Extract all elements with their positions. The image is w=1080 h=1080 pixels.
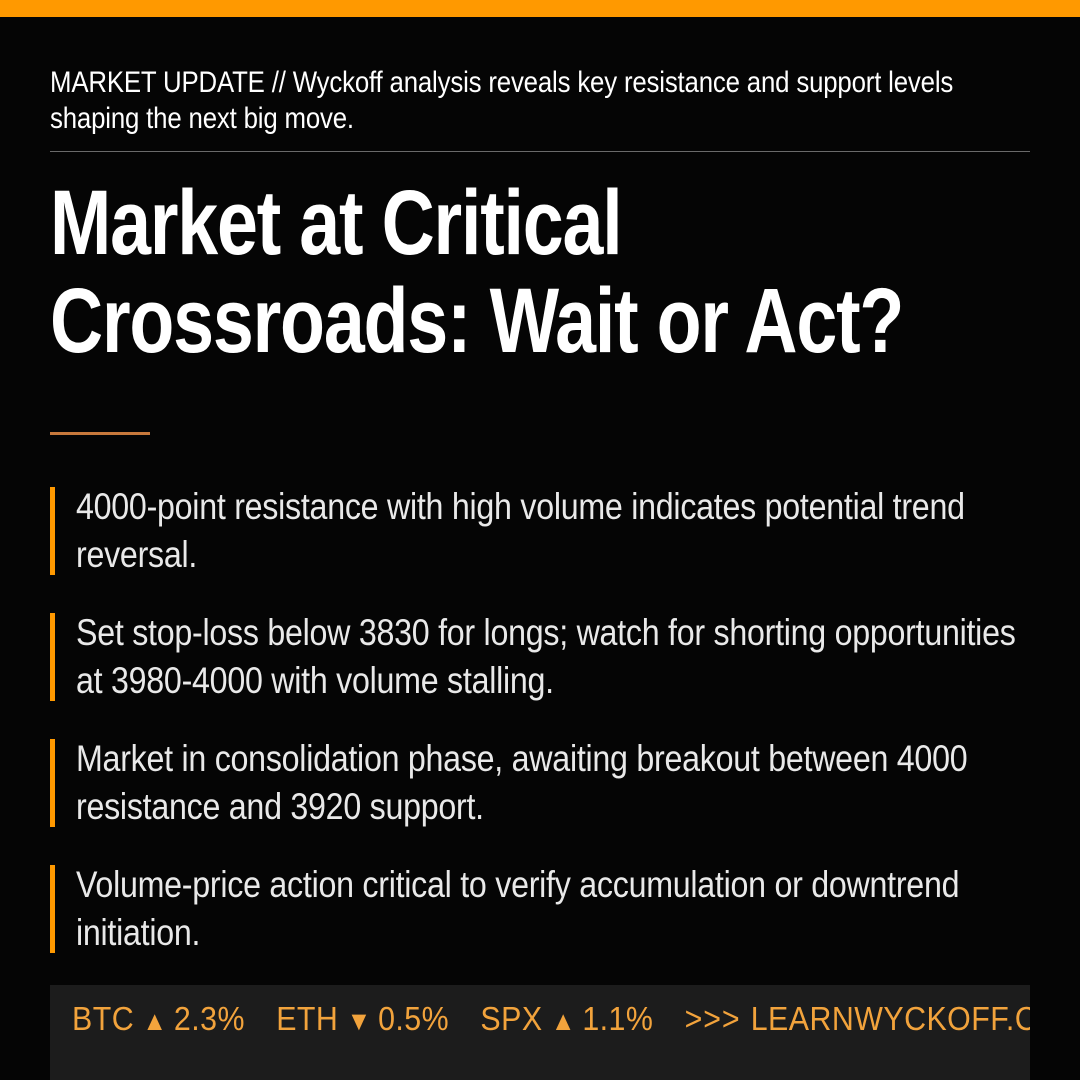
ticker-change: 1.1% — [582, 999, 653, 1039]
list-item: Market in consolidation phase, awaiting … — [50, 735, 1030, 831]
list-item: Volume-price action critical to verify a… — [50, 861, 1030, 957]
ticker-symbol: BTC — [72, 999, 134, 1039]
list-item: 4000-point resistance with high volume i… — [50, 483, 1030, 579]
bullet-text: Market in consolidation phase, awaiting … — [76, 735, 1033, 831]
bullet-text: Volume-price action critical to verify a… — [76, 861, 1033, 957]
bullet-accent-bar — [50, 739, 55, 827]
bullet-accent-bar — [50, 487, 55, 575]
ticker-symbol: ETH — [276, 999, 338, 1039]
top-accent-bar — [0, 0, 1080, 17]
ticker-symbol: SPX — [480, 999, 542, 1039]
ticker-cta-link[interactable]: >>> LEARNWYCKOFF.COM — [685, 999, 1030, 1039]
market-update-graphic: MARKET UPDATE // Wyckoff analysis reveal… — [0, 0, 1080, 1080]
bullet-accent-bar — [50, 865, 55, 953]
arrow-up-icon: ▲ — [142, 1001, 167, 1041]
kicker-divider — [50, 151, 1030, 152]
headline-accent-rule — [50, 432, 150, 435]
bullet-text: 4000-point resistance with high volume i… — [76, 483, 1033, 579]
chevrons-right-icon: >>> — [685, 999, 741, 1039]
arrow-up-icon: ▲ — [551, 1001, 576, 1041]
bullet-text: Set stop-loss below 3830 for longs; watc… — [76, 609, 1033, 705]
kicker-text: MARKET UPDATE // Wyckoff analysis reveal… — [50, 65, 1030, 137]
ticker-change: 0.5% — [378, 999, 449, 1039]
content-area: MARKET UPDATE // Wyckoff analysis reveal… — [50, 17, 1030, 957]
bullet-accent-bar — [50, 613, 55, 701]
market-ticker-bar: BTC ▲ 2.3% ETH ▼ 0.5% SPX ▲ 1.1% >>> LEA… — [50, 985, 1030, 1080]
ticker-change: 2.3% — [174, 999, 245, 1039]
ticker-row: BTC ▲ 2.3% ETH ▼ 0.5% SPX ▲ 1.1% >>> LEA… — [72, 999, 1030, 1041]
bullet-list: 4000-point resistance with high volume i… — [50, 483, 1030, 957]
arrow-down-icon: ▼ — [347, 1001, 372, 1041]
ticker-item-btc: BTC ▲ 2.3% — [72, 999, 245, 1041]
ticker-item-spx: SPX ▲ 1.1% — [480, 999, 653, 1041]
page-title: Market at Critical Crossroads: Wait or A… — [50, 174, 1026, 370]
ticker-cta-label: LEARNWYCKOFF.COM — [751, 999, 1030, 1039]
ticker-item-eth: ETH ▼ 0.5% — [276, 999, 449, 1041]
list-item: Set stop-loss below 3830 for longs; watc… — [50, 609, 1030, 705]
